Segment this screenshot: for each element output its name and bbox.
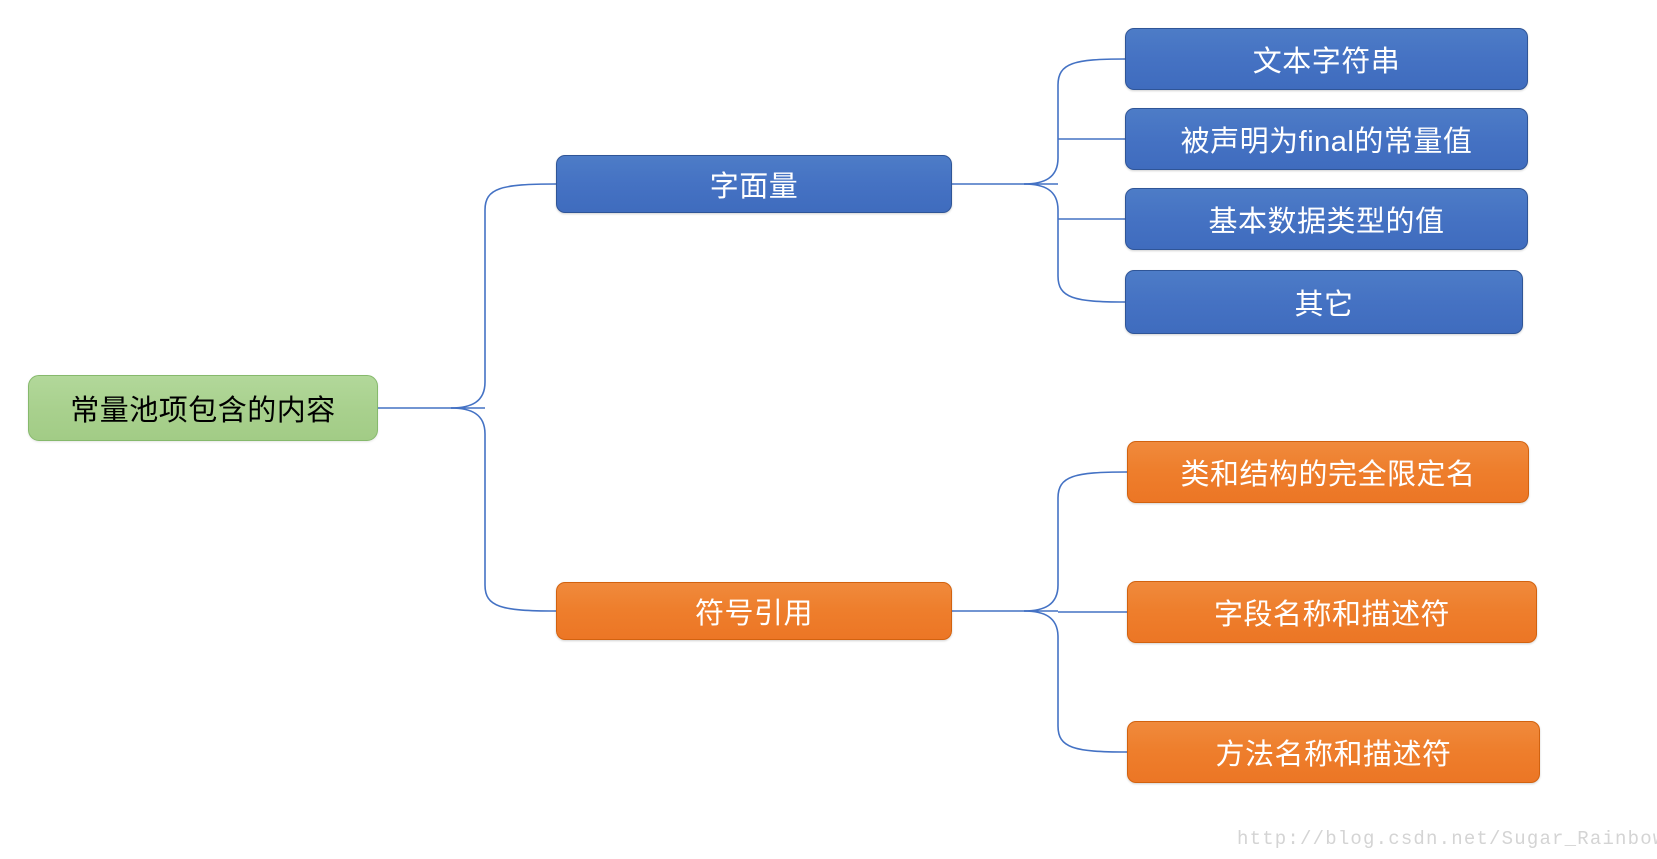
node-leaf-primitive-value-label: 基本数据类型的值 (1208, 198, 1444, 240)
node-root-label: 常量池项包含的内容 (70, 387, 336, 429)
node-leaf-other[interactable]: 其它 (1125, 270, 1523, 334)
node-branch-literal-label: 字面量 (710, 163, 799, 205)
node-branch-symbolic-reference[interactable]: 符号引用 (556, 582, 952, 640)
node-leaf-fully-qualified-name[interactable]: 类和结构的完全限定名 (1127, 441, 1529, 503)
node-leaf-final-constant-label: 被声明为final的常量值 (1181, 118, 1473, 160)
node-leaf-other-label: 其它 (1294, 281, 1353, 323)
node-root[interactable]: 常量池项包含的内容 (28, 375, 378, 441)
watermark-url: http://blog.csdn.net/Sugar_Rainbow (1237, 828, 1657, 850)
node-leaf-method-name-descriptor-label: 方法名称和描述符 (1215, 731, 1451, 773)
node-leaf-final-constant[interactable]: 被声明为final的常量值 (1125, 108, 1528, 170)
node-leaf-field-name-descriptor[interactable]: 字段名称和描述符 (1127, 581, 1537, 643)
node-leaf-field-name-descriptor-label: 字段名称和描述符 (1214, 591, 1450, 633)
node-leaf-text-string-label: 文本字符串 (1253, 38, 1401, 80)
node-leaf-method-name-descriptor[interactable]: 方法名称和描述符 (1127, 721, 1540, 783)
node-leaf-primitive-value[interactable]: 基本数据类型的值 (1125, 188, 1528, 250)
node-branch-symbolic-reference-label: 符号引用 (695, 590, 813, 632)
node-branch-literal[interactable]: 字面量 (556, 155, 952, 213)
mindmap-canvas: 常量池项包含的内容 字面量 文本字符串 被声明为final的常量值 基本数据类型… (0, 0, 1657, 859)
node-leaf-text-string[interactable]: 文本字符串 (1125, 28, 1528, 90)
node-leaf-fully-qualified-name-label: 类和结构的完全限定名 (1180, 451, 1475, 493)
